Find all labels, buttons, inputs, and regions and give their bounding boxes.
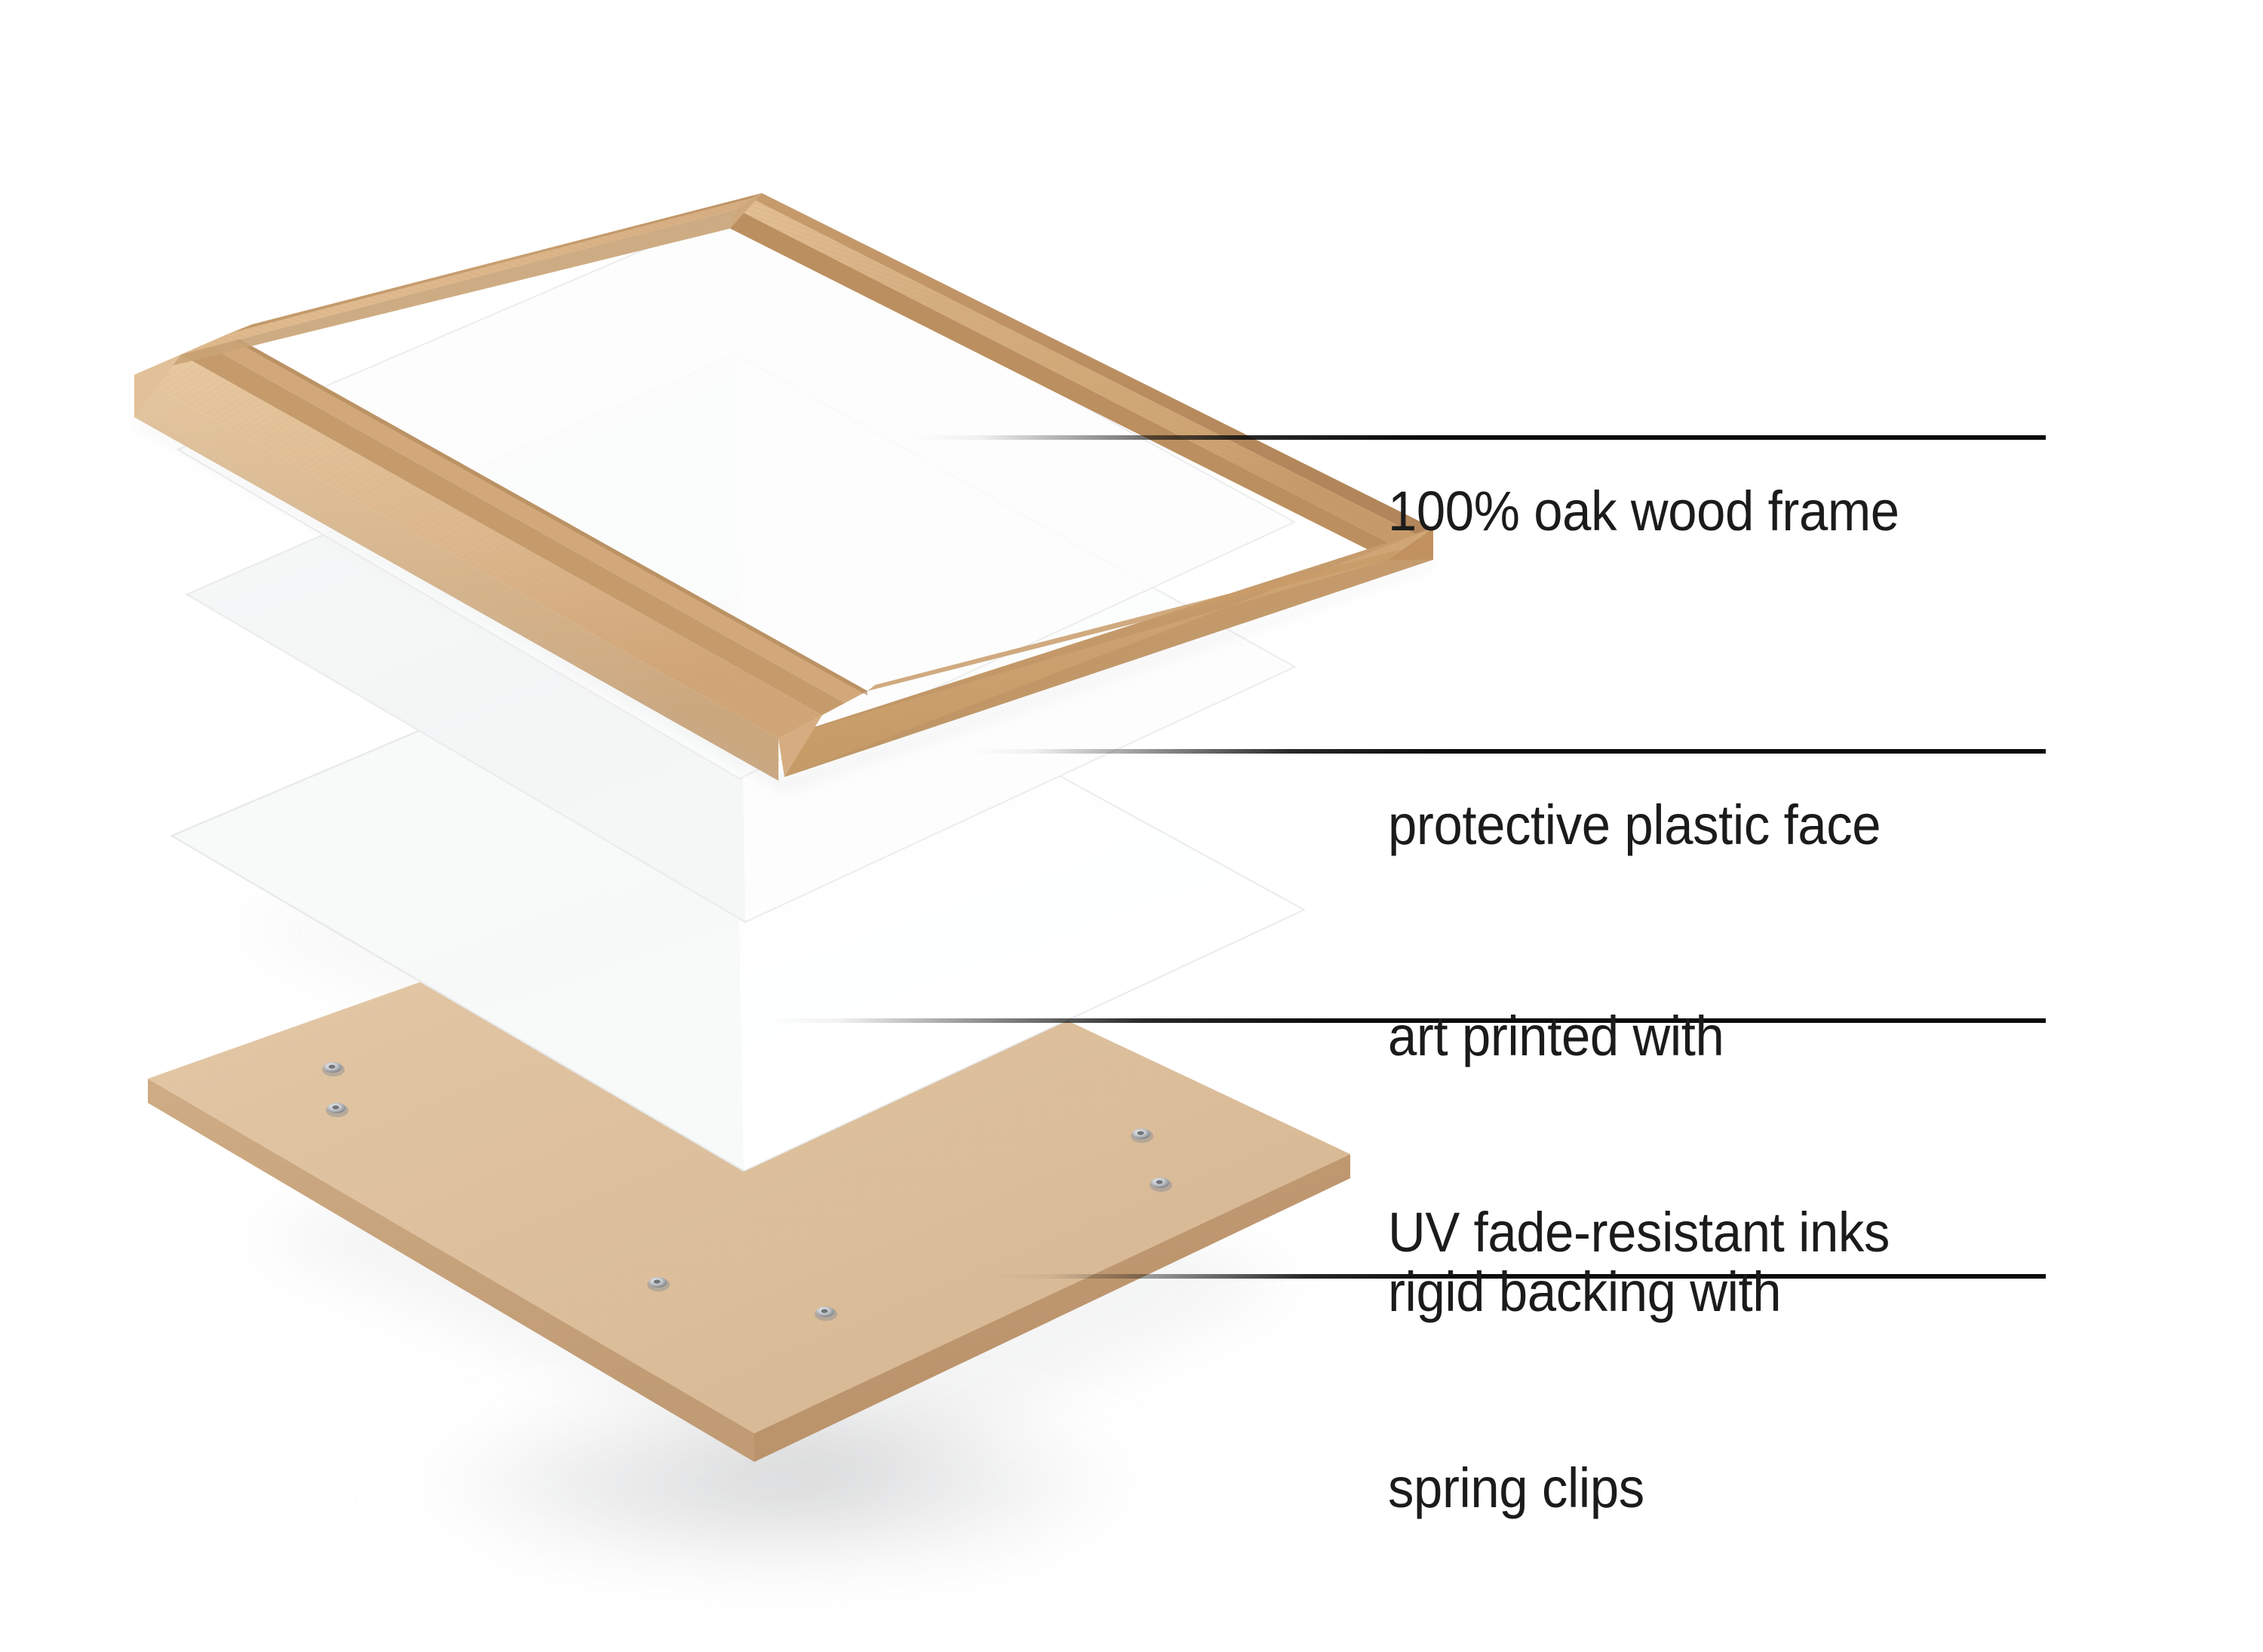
callout-line: protective plastic face [1388, 793, 1881, 858]
exploded-diagram: 100% oak wood frame protective plastic f… [0, 0, 2263, 1617]
exploded-product-illustration [0, 0, 2263, 1617]
callout-line: spring clips [1388, 1456, 1781, 1521]
callout-line: art printed with [1388, 1004, 1890, 1070]
callout-label-backing: rigid backing with spring clips [1388, 1129, 1781, 1652]
callout-line: rigid backing with [1388, 1260, 1781, 1325]
callout-label-frame: 100% oak wood frame [1388, 349, 1899, 675]
callout-line: 100% oak wood frame [1388, 479, 1899, 545]
